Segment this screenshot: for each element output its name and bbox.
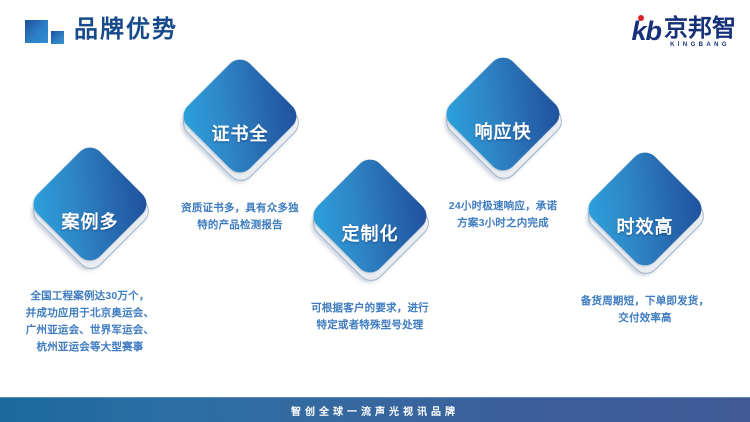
footer-slogan: 智创全球一流声光视讯品牌 [291,403,459,418]
card-description-3: 可根据客户的要求，进行 特定或者特殊型号处理 [270,300,470,334]
card-label-5: 时效高 [584,165,706,287]
card-desc-line: 备货周期短，下单即发货， [545,293,745,310]
square-small-icon [51,31,64,44]
page-title: 品牌优势 [74,13,178,47]
card-desc-line: 并成功应用于北京奥运会、 [0,305,190,322]
logo-mark-letters: kb [631,16,661,46]
logo-name-block: 京邦智 KINGBANG [664,16,736,49]
card-desc-line: 特定或者特殊型号处理 [270,317,470,334]
card-desc-line: 全国工程案例达30万个， [0,288,190,305]
brand-logo: kb 京邦智 KINGBANG [631,16,736,50]
slide-canvas: 品牌优势 kb 京邦智 KINGBANG 案例多 全国工程案例达30万个， 并成… [0,0,750,422]
card-description-1: 全国工程案例达30万个， 并成功应用于北京奥运会、 广州亚运会、世界军运会、 杭… [0,288,190,356]
diamond-shape-1: 案例多 [29,160,151,282]
logo-name-cn: 京邦智 [664,16,736,41]
logo-name-en: KINGBANG [664,41,736,49]
title-decoration [25,20,65,46]
square-large-icon [25,20,48,43]
card-description-5: 备货周期短，下单即发货， 交付效率高 [545,293,745,327]
logo-mark-text: kb [631,16,661,46]
advantage-card-5[interactable]: 时效高 备货周期短，下单即发货， 交付效率高 [545,165,745,327]
card-desc-line: 可根据客户的要求，进行 [270,300,470,317]
card-desc-line: 杭州亚运会等大型赛事 [0,339,190,356]
slide-footer: 智创全球一流声光视讯品牌 [0,397,750,422]
card-desc-line: 交付效率高 [545,310,745,327]
diamond-shape-5: 时效高 [584,165,706,287]
card-desc-line: 广州亚运会、世界军运会、 [0,322,190,339]
slide-header: 品牌优势 kb 京邦智 KINGBANG [0,0,750,62]
card-label-1: 案例多 [29,160,151,282]
